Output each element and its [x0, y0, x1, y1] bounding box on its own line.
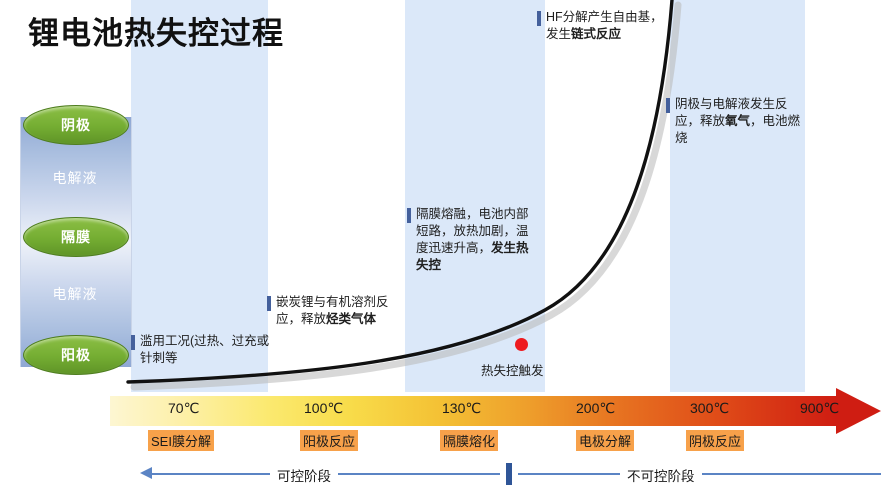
temp-tick-900: 900℃: [800, 400, 839, 417]
phase-label-uncontrollable: 不可控阶段: [620, 465, 702, 485]
annotation-emphasis: 氧气: [725, 114, 750, 128]
phase-label-controllable: 可控阶段: [270, 465, 338, 485]
stage-chip-cathode: 阴极反应: [686, 430, 744, 451]
phase-axis: 可控阶段 不可控阶段: [140, 462, 840, 488]
phase-arrow-left-icon: [140, 467, 152, 479]
stage-chip-separator: 隔膜熔化: [440, 430, 498, 451]
annotation-text: 滥用工况(过热、过充或针刺等: [140, 334, 269, 365]
temperature-arrow-head-icon: [836, 388, 881, 434]
temp-tick-100: 100℃: [304, 400, 343, 417]
stage-chip-electrode: 电极分解: [576, 430, 634, 451]
annotation-hf-chain-reaction: HF分解产生自由基，发生链式反应: [537, 9, 666, 43]
temp-tick-300: 300℃: [690, 400, 729, 417]
temp-tick-130: 130℃: [442, 400, 481, 417]
temperature-axis: [110, 396, 881, 426]
stage-chip-sei: SEI膜分解: [148, 430, 214, 451]
stage-chip-anode: 阳极反应: [300, 430, 358, 451]
thermal-runaway-trigger-label: 热失控触发: [481, 360, 544, 379]
phase-divider: [506, 463, 512, 485]
temp-tick-70: 70℃: [168, 400, 199, 417]
annotation-separator-melt: 隔膜熔融，电池内部短路，放热加剧，温度迅速升高，发生热失控: [407, 206, 538, 274]
annotation-cathode-oxygen: 阴极与电解液发生反应，释放氧气，电池燃烧: [666, 96, 805, 147]
thermal-runaway-trigger-dot: [515, 338, 528, 351]
annotation-abuse-condition: 滥用工况(过热、过充或针刺等: [131, 333, 270, 367]
annotation-emphasis: 烃类气体: [326, 312, 376, 326]
annotation-hydrocarbon-gas: 嵌炭锂与有机溶剂反应，释放烃类气体: [267, 294, 396, 328]
annotation-emphasis: 链式反应: [571, 27, 621, 41]
temp-tick-200: 200℃: [576, 400, 615, 417]
